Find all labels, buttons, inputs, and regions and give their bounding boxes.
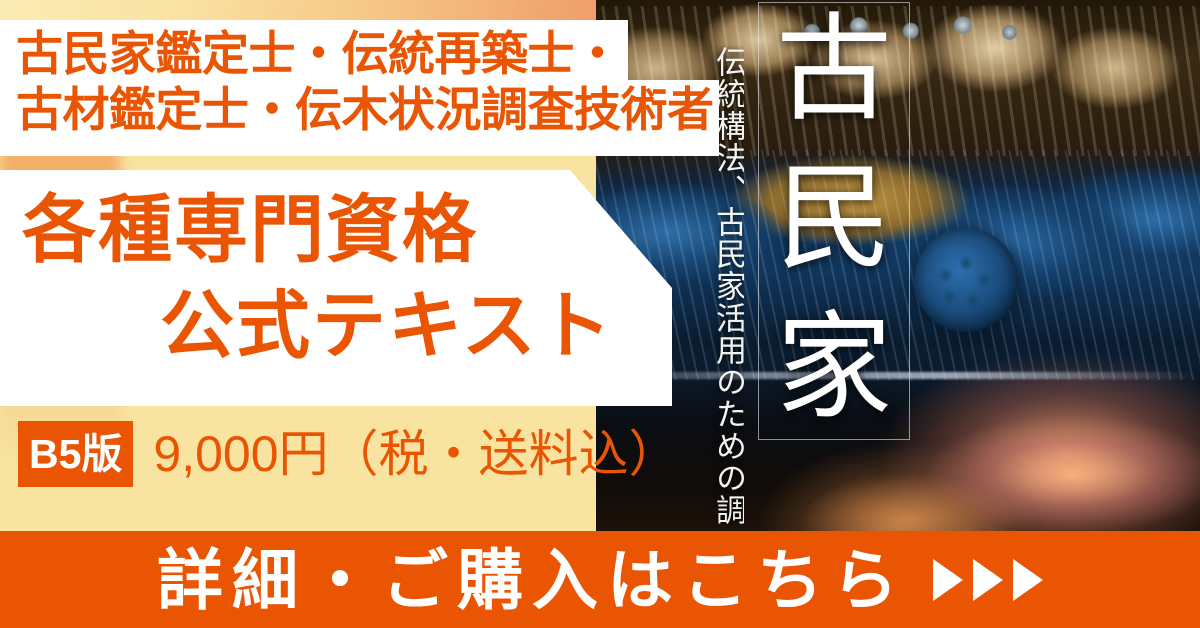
headline-line-2: 古材鑑定士・伝木状況調査技術者 xyxy=(16,82,726,138)
right-triangle-icon-2 xyxy=(973,559,1003,601)
right-triangle-icon-1 xyxy=(933,559,963,601)
cta-bar[interactable]: 詳細・ご購入はこちら xyxy=(0,531,1200,628)
headline: 古民家鑑定士・伝統再築士・ 古材鑑定士・伝木状況調査技術者 xyxy=(16,26,726,138)
cta-label: 詳細・ご購入はこちら xyxy=(157,547,907,613)
subheadline: 各種専門資格 公式テキスト xyxy=(0,182,668,374)
book-title-char-3: 家 xyxy=(776,310,892,426)
book-title-char-2: 民 xyxy=(776,161,892,277)
subheadline-line-2: 公式テキスト xyxy=(0,278,668,374)
price-amount: 9,000円（税・送料込） xyxy=(153,421,678,487)
format-badge: B5版 xyxy=(18,421,133,487)
triple-right-triangle-icon xyxy=(933,559,1043,601)
right-triangle-icon-3 xyxy=(1013,559,1043,601)
family-crest-medallion xyxy=(914,228,1018,332)
price-row: B5版 9,000円（税・送料込） xyxy=(18,421,679,487)
banner-root: 古 民 家 伝統構法、古民家活用のための調査と再生の 古民家鑑定士・伝統再築士・… xyxy=(0,0,1200,628)
subheadline-line-1: 各種専門資格 xyxy=(0,182,668,278)
book-title-char-1: 古 xyxy=(776,12,892,128)
book-title-vertical: 古 民 家 xyxy=(764,6,904,436)
cta-content[interactable]: 詳細・ご購入はこちら xyxy=(157,547,1043,613)
headline-line-1: 古民家鑑定士・伝統再築士・ xyxy=(16,27,621,80)
